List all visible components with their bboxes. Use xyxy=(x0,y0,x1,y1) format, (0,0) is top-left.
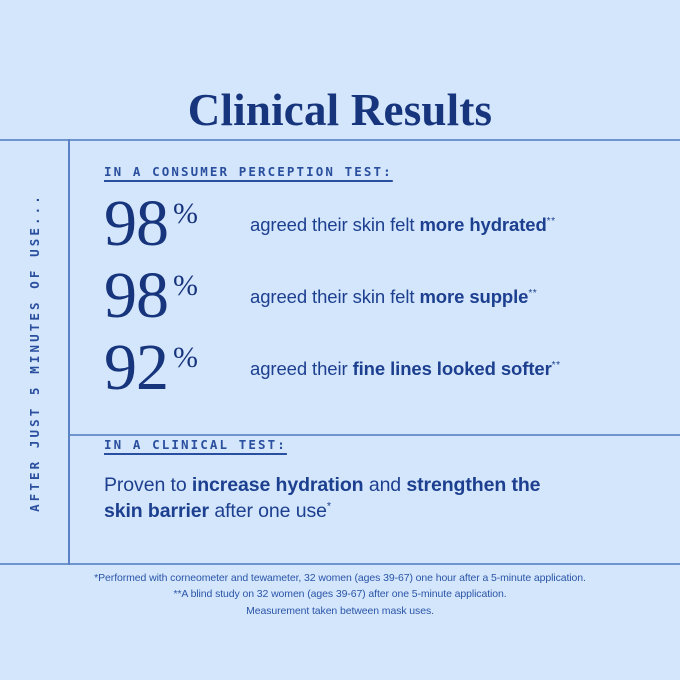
stat-description-emphasis: more supple xyxy=(419,286,528,307)
clinical-statement-part2: and xyxy=(364,474,407,496)
footnote-line: Measurement taken between mask uses. xyxy=(0,603,680,619)
stat-description: agreed their skin felt more hydrated** xyxy=(250,197,556,236)
stat-description-lead: agreed their xyxy=(250,358,353,379)
stat-footnote-marker: ** xyxy=(528,288,537,299)
side-label-container: AFTER JUST 5 MINUTES OF USE... xyxy=(0,139,68,565)
stat-row: 92 % agreed their fine lines looked soft… xyxy=(104,341,680,413)
clinical-statement-part3: after one use xyxy=(209,500,327,522)
stat-description-lead: agreed their skin felt xyxy=(250,214,419,235)
clinical-eyebrow-label: IN A CLINICAL TEST: xyxy=(104,437,287,452)
footnotes-block: *Performed with corneometer and tewamete… xyxy=(0,570,680,619)
footnote-line: *Performed with corneometer and tewamete… xyxy=(0,570,680,586)
stat-number: 98 xyxy=(104,269,168,323)
side-label-text: AFTER JUST 5 MINUTES OF USE... xyxy=(27,193,42,512)
stat-footnote-marker: ** xyxy=(552,360,561,371)
stats-list: 98 % agreed their skin felt more hydrate… xyxy=(104,197,680,413)
stat-description: agreed their fine lines looked softer** xyxy=(250,341,561,380)
clinical-test-section: IN A CLINICAL TEST: Proven to increase h… xyxy=(68,413,680,525)
perception-eyebrow-label: IN A CONSUMER PERCEPTION TEST: xyxy=(104,164,393,179)
footnote-line: **A blind study on 32 women (ages 39-67)… xyxy=(0,586,680,602)
stat-percent-sign: % xyxy=(173,199,198,229)
stat-percent-sign: % xyxy=(173,343,198,373)
clinical-footnote-marker: * xyxy=(327,501,332,513)
clinical-results-infographic: Clinical Results AFTER JUST 5 MINUTES OF… xyxy=(0,0,680,680)
stat-number: 98 xyxy=(104,197,168,251)
stat-row: 98 % agreed their skin felt more supple*… xyxy=(104,269,680,341)
stat-description-emphasis: more hydrated xyxy=(419,214,546,235)
consumer-perception-section: IN A CONSUMER PERCEPTION TEST: 98 % agre… xyxy=(68,139,680,413)
page-title: Clinical Results xyxy=(0,88,680,133)
clinical-statement: Proven to increase hydration and strengt… xyxy=(104,472,574,525)
clinical-statement-part1: Proven to xyxy=(104,474,192,496)
stat-description-emphasis: fine lines looked softer xyxy=(353,358,552,379)
content-column: IN A CONSUMER PERCEPTION TEST: 98 % agre… xyxy=(68,139,680,544)
stat-footnote-marker: ** xyxy=(547,216,556,227)
divider-bottom xyxy=(0,563,680,565)
stat-row: 98 % agreed their skin felt more hydrate… xyxy=(104,197,680,269)
stat-figure: 92 % xyxy=(104,341,250,395)
stat-description-lead: agreed their skin felt xyxy=(250,286,419,307)
stat-figure: 98 % xyxy=(104,269,250,323)
stat-percent-sign: % xyxy=(173,271,198,301)
stat-number: 92 xyxy=(104,341,168,395)
stat-figure: 98 % xyxy=(104,197,250,251)
clinical-statement-emphasis-1: increase hydration xyxy=(192,474,364,496)
stat-description: agreed their skin felt more supple** xyxy=(250,269,537,308)
